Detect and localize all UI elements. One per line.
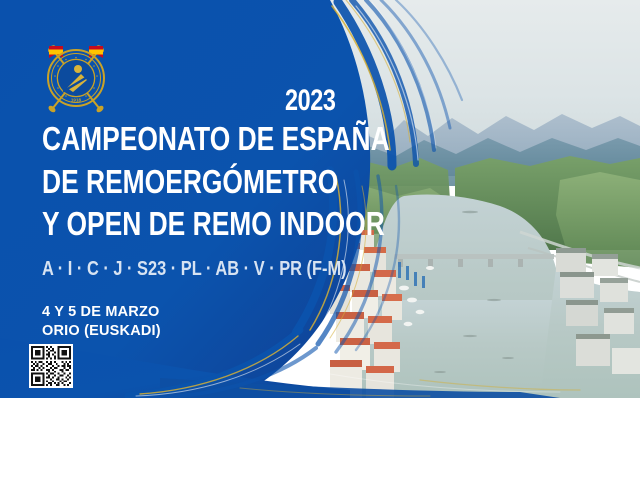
title-line-3: Y OPEN DE REMO INDOOR: [42, 207, 306, 241]
title-line-2: DE REMOERGÓMETRO: [42, 165, 306, 199]
spain-flag-ribbon-right: [89, 46, 103, 58]
poster-content: 1918 2023 CAMPEONATO DE ESPAÑA DE REMOER…: [0, 0, 640, 398]
event-details: 4 Y 5 DE MARZO ORIO (EUSKADI): [42, 303, 161, 342]
fer-logo-svg: 1918: [37, 36, 115, 114]
categories-line: A · I · C · J · S23 · PL · AB · V · PR (…: [42, 258, 347, 281]
year-label: 2023: [285, 86, 336, 116]
event-location: ORIO (EUSKADI): [42, 322, 161, 341]
qr-code[interactable]: [29, 344, 73, 388]
page-title: CAMPEONATO DE ESPAÑA DE REMOERGÓMETRO Y …: [42, 122, 372, 250]
title-line-1: CAMPEONATO DE ESPAÑA: [42, 122, 306, 156]
poster-root: 1918 2023 CAMPEONATO DE ESPAÑA DE REMOER…: [0, 0, 640, 480]
event-date: 4 Y 5 DE MARZO: [42, 303, 161, 322]
spain-flag-ribbon-left: [49, 46, 63, 58]
qr-code-svg[interactable]: [31, 346, 71, 386]
federacion-espanola-de-remo-logo: 1918: [37, 36, 115, 114]
sponsor-bar: Consejo Superior de Deportes: [0, 398, 640, 480]
fer-logo-founded: 1918: [71, 98, 82, 103]
